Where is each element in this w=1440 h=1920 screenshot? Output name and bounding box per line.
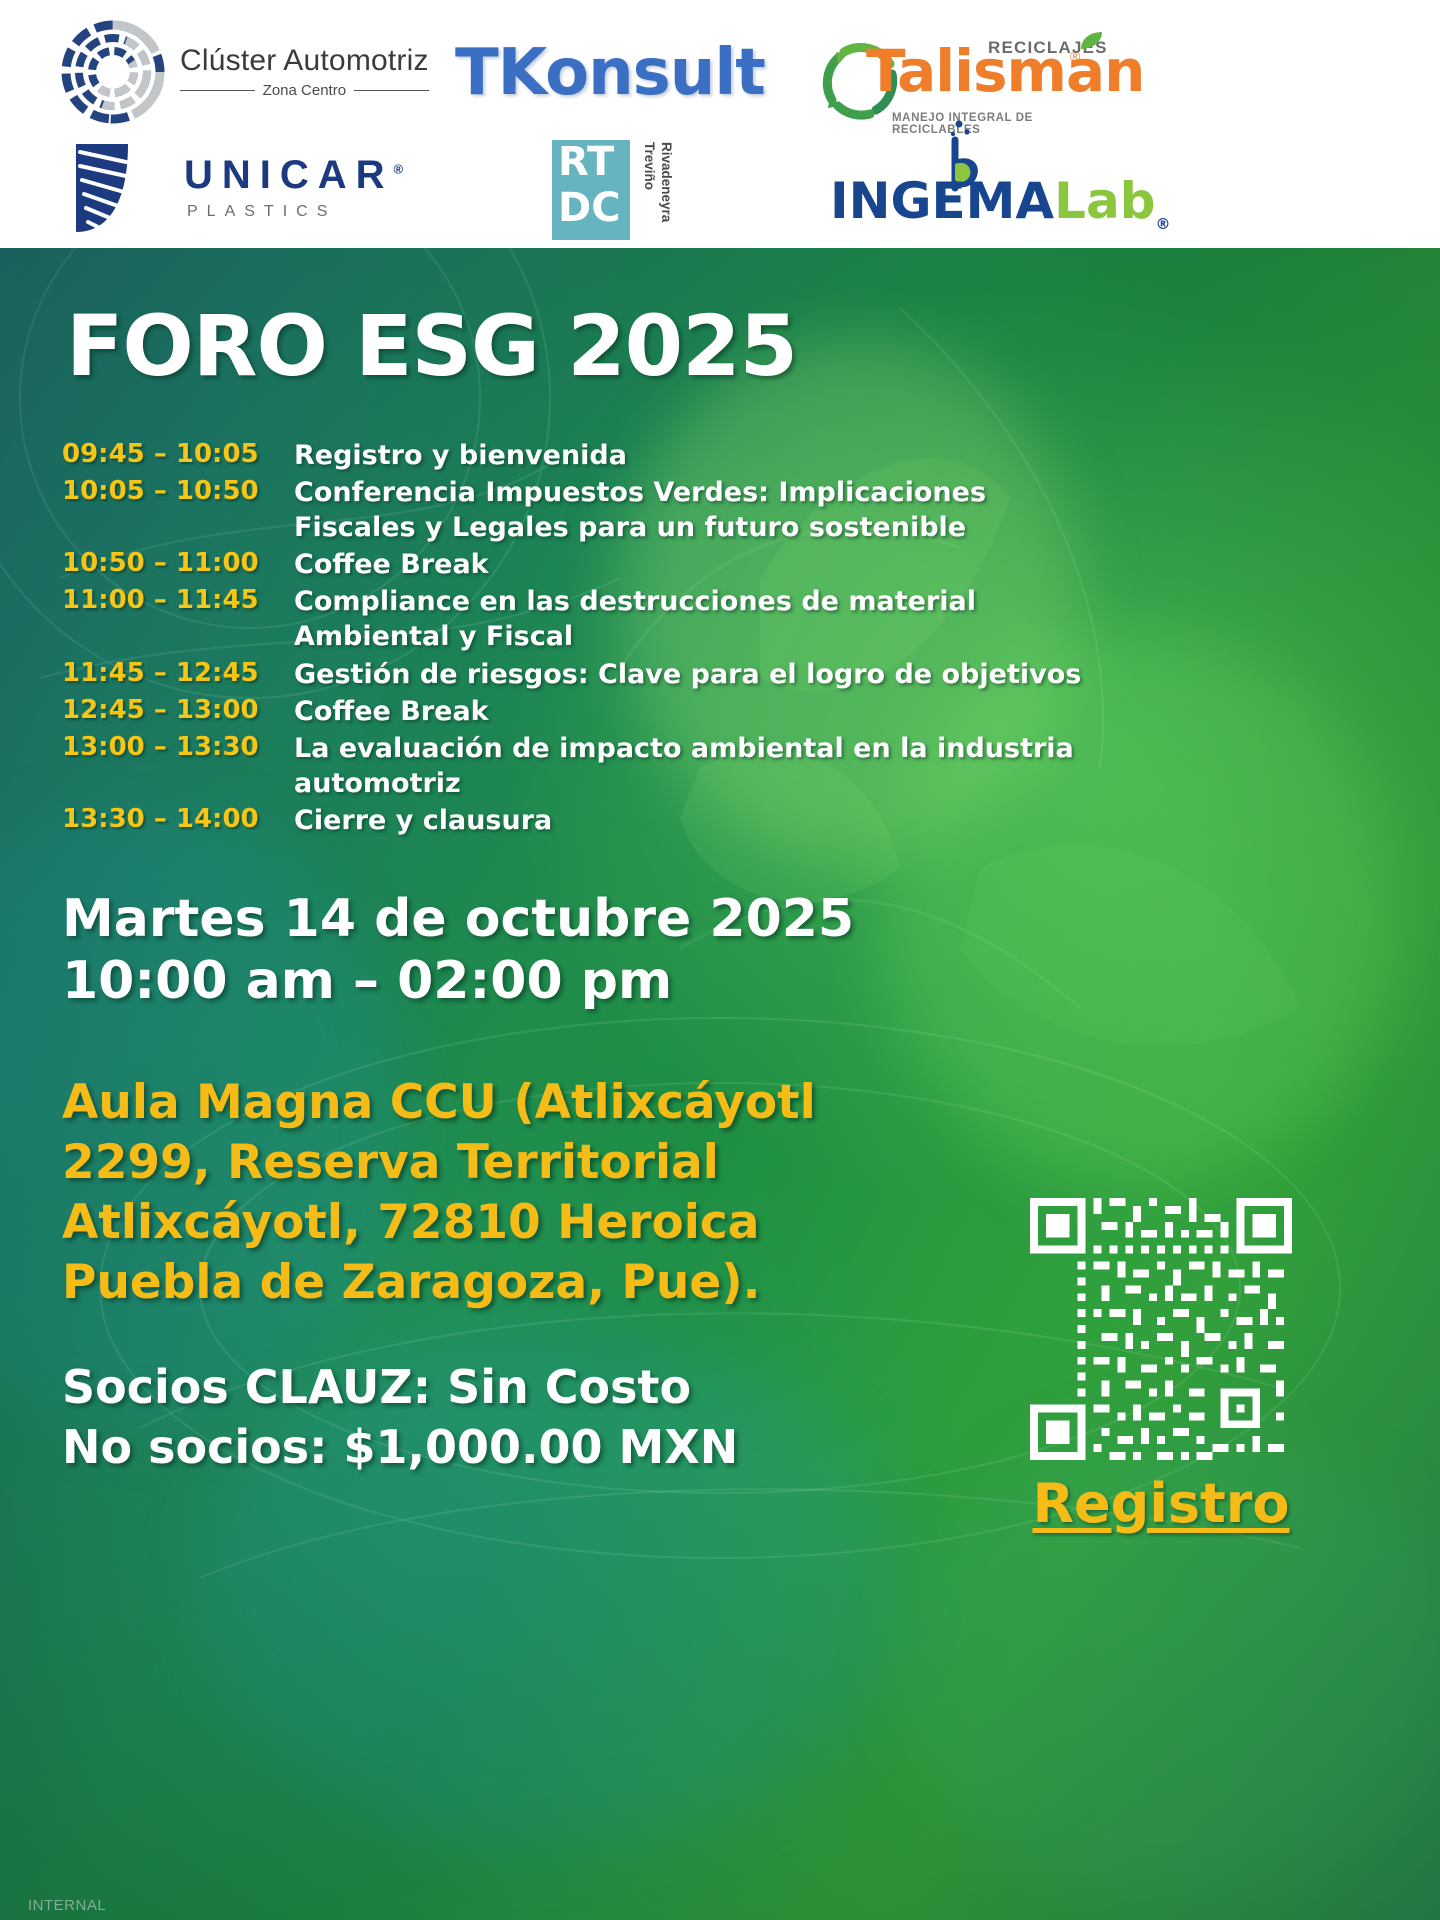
- agenda-desc-line1: Coffee Break: [294, 696, 489, 727]
- ingemalab-name: INGEMALab®: [830, 176, 1171, 232]
- agenda-list: 09:45 – 10:05 Registro y bienvenida 10:0…: [62, 438, 1182, 840]
- event-date: Martes 14 de octubre 2025: [62, 888, 854, 950]
- agenda-description: Compliance en las destrucciones de mater…: [294, 584, 1182, 654]
- tkonsult-name: TKonsult: [455, 36, 765, 110]
- agenda-time: 09:45 – 10:05: [62, 438, 294, 472]
- agenda-description: Registro y bienvenida: [294, 438, 1182, 473]
- internal-watermark: INTERNAL: [28, 1897, 106, 1914]
- pricing-block: Socios CLAUZ: Sin Costo No socios: $1,00…: [62, 1358, 738, 1478]
- venue-line-3: Atlixcáyotl, 72810 Heroica: [62, 1193, 862, 1253]
- rtdc-side-text: Rivadeneyra Treviño: [634, 142, 674, 242]
- fan-rays-icon: [70, 140, 168, 236]
- agenda-time: 11:00 – 11:45: [62, 584, 294, 618]
- page-title: FORO ESG 2025: [66, 304, 797, 388]
- agenda-time: 12:45 – 13:00: [62, 694, 294, 728]
- rtdc-letters-bottom: DC: [558, 190, 621, 227]
- qr-code-icon[interactable]: [1030, 1198, 1292, 1460]
- agenda-desc-line1: Cierre y clausura: [294, 805, 552, 836]
- agenda-description: La evaluación de impacto ambiental en la…: [294, 731, 1182, 801]
- venue-line-4: Puebla de Zaragoza, Pue).: [62, 1253, 862, 1313]
- price-members: Socios CLAUZ: Sin Costo: [62, 1358, 738, 1418]
- unicar-registered-mark: ®: [394, 162, 404, 177]
- agenda-row: 11:00 – 11:45 Compliance en las destrucc…: [62, 584, 1182, 654]
- agenda-time: 10:50 – 11:00: [62, 547, 294, 581]
- agenda-description: Gestión de riesgos: Clave para el logro …: [294, 657, 1182, 692]
- agenda-desc-line1: Conferencia Impuestos Verdes: Implicacio…: [294, 477, 986, 508]
- ingemalab-name-dark: INGEMA: [830, 172, 1054, 230]
- ingemalab-name-light: Lab: [1054, 172, 1155, 230]
- cluster-subtitle: Zona Centro: [263, 82, 346, 99]
- agenda-time: 13:30 – 14:00: [62, 803, 294, 837]
- logo-unicar: UNICAR® PLASTICS: [70, 136, 490, 240]
- poster-content: FORO ESG 2025 09:45 – 10:05 Registro y b…: [0, 248, 1440, 1920]
- logo-rtdc: RT DC Rivadeneyra Treviño: [552, 138, 722, 244]
- divider-left: [180, 90, 255, 91]
- rtdc-side-line2: Treviño: [642, 142, 657, 190]
- agenda-row: 10:05 – 10:50 Conferencia Impuestos Verd…: [62, 475, 1182, 545]
- leaf-icon: [1078, 30, 1104, 56]
- agenda-description: Conferencia Impuestos Verdes: Implicacio…: [294, 475, 1182, 545]
- agenda-row: 12:45 – 13:00 Coffee Break: [62, 694, 1182, 729]
- agenda-description: Cierre y clausura: [294, 803, 1182, 838]
- agenda-description: Coffee Break: [294, 694, 1182, 729]
- divider-right: [354, 90, 429, 91]
- venue-line-1: Aula Magna CCU (Atlixcáyotl: [62, 1073, 862, 1133]
- ingemalab-registered-mark: ®: [1156, 215, 1171, 233]
- agenda-row: 13:00 – 13:30 La evaluación de impacto a…: [62, 731, 1182, 801]
- agenda-desc-line1: Gestión de riesgos: Clave para el logro …: [294, 659, 1081, 690]
- agenda-description: Coffee Break: [294, 547, 1182, 582]
- agenda-time: 10:05 – 10:50: [62, 475, 294, 509]
- poster-background: FORO ESG 2025 09:45 – 10:05 Registro y b…: [0, 248, 1440, 1920]
- event-venue: Aula Magna CCU (Atlixcáyotl 2299, Reserv…: [62, 1073, 862, 1314]
- agenda-desc-line1: Coffee Break: [294, 549, 489, 580]
- rtdc-side-line1: Rivadeneyra: [659, 142, 674, 222]
- agenda-desc-line1: Registro y bienvenida: [294, 440, 627, 471]
- concentric-rings-icon: [60, 19, 166, 125]
- registration-qr-block[interactable]: Registro: [1030, 1198, 1330, 1535]
- registration-link-label[interactable]: Registro: [1030, 1472, 1292, 1535]
- agenda-desc-line1: Compliance en las destrucciones de mater…: [294, 586, 976, 617]
- agenda-time: 11:45 – 12:45: [62, 657, 294, 691]
- rtdc-letters-top: RT: [558, 144, 614, 181]
- logo-tkonsult: TKonsult: [455, 30, 755, 116]
- logo-ingemalab: INGEMALab®: [1010, 128, 1330, 246]
- agenda-row: 10:50 – 11:00 Coffee Break: [62, 547, 1182, 582]
- partner-logo-band: Clúster Automotriz Zona Centro TKonsult …: [0, 0, 1440, 248]
- event-datetime: Martes 14 de octubre 2025 10:00 am – 02:…: [62, 888, 854, 1013]
- cluster-name: Clúster Automotriz: [180, 46, 429, 76]
- venue-line-2: 2299, Reserva Territorial: [62, 1133, 862, 1193]
- agenda-time: 13:00 – 13:30: [62, 731, 294, 765]
- event-time: 10:00 am – 02:00 pm: [62, 950, 854, 1012]
- agenda-desc-line2: Ambiental y Fiscal: [294, 619, 1182, 654]
- unicar-name: UNICAR®: [184, 155, 403, 195]
- unicar-subtitle: PLASTICS: [187, 203, 403, 221]
- agenda-desc-line1: La evaluación de impacto ambiental en la…: [294, 733, 1074, 764]
- price-non-members: No socios: $1,000.00 MXN: [62, 1418, 738, 1478]
- agenda-row: 13:30 – 14:00 Cierre y clausura: [62, 803, 1182, 838]
- agenda-desc-line2: automotriz: [294, 766, 1182, 801]
- logo-talisman: Talisman ® RECICLAJES MANEJO INTEGRAL DE…: [810, 20, 1110, 130]
- agenda-desc-line2: Fiscales y Legales para un futuro sosten…: [294, 510, 1182, 545]
- agenda-row: 09:45 – 10:05 Registro y bienvenida: [62, 438, 1182, 473]
- logo-cluster-automotriz: Clúster Automotriz Zona Centro: [60, 14, 480, 130]
- agenda-row: 11:45 – 12:45 Gestión de riesgos: Clave …: [62, 657, 1182, 692]
